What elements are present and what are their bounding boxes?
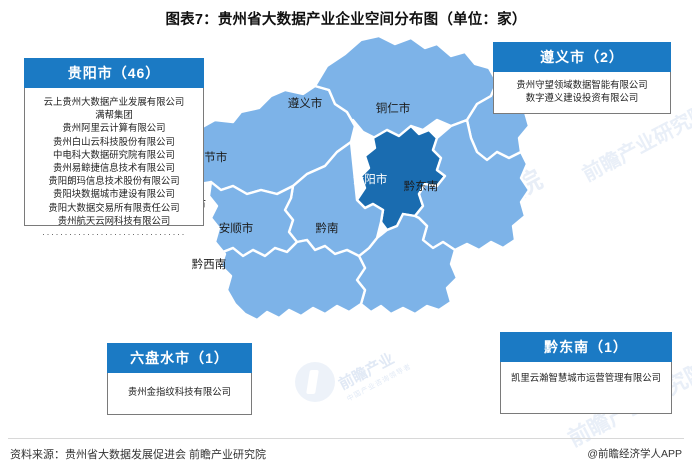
callout-panel-qiandongnan[interactable]: 黔东南（1） 凯里云瀚智慧城市运营管理有限公司 [500, 332, 672, 414]
list-item: 贵州金指纹科技有限公司 [114, 385, 245, 398]
list-item: 贵阳块数据城市建设有限公司 [31, 187, 197, 200]
list-more-indicator: ································ [31, 229, 197, 239]
panel-header-guiyang: 贵阳市（46） [24, 58, 204, 88]
panel-count-guiyang: （46） [113, 65, 161, 81]
list-item: 贵州阿里云计算有限公司 [31, 121, 197, 134]
panel-header-liupanshui: 六盘水市（1） [107, 343, 252, 373]
panel-body-qiandongnan: 凯里云瀚智慧城市运营管理有限公司 [500, 362, 672, 414]
panel-title-zunyi: 遵义市 [540, 49, 585, 65]
guizhou-map [175, 34, 535, 364]
panel-count-zunyi: （2） [585, 49, 624, 65]
map-region-liupanshui[interactable] [209, 182, 297, 256]
list-item: 云上贵州大数据产业发展有限公司 [31, 95, 197, 108]
callout-panel-guiyang[interactable]: 贵阳市（46） 云上贵州大数据产业发展有限公司 满帮集团 贵州阿里云计算有限公司… [24, 58, 204, 226]
list-item: 贵州守望领域数据智能有限公司 [500, 78, 664, 91]
list-item: 凯里云瀚智慧城市运营管理有限公司 [507, 371, 665, 384]
map-label-qiandongnan: 黔东南 [404, 178, 439, 194]
footer-divider [8, 438, 684, 439]
panel-title-liupanshui: 六盘水市 [130, 350, 190, 366]
map-region-qianxinan[interactable] [215, 240, 365, 320]
panel-count-qiandongnan: （1） [589, 339, 628, 355]
panel-body-guiyang: 云上贵州大数据产业发展有限公司 满帮集团 贵州阿里云计算有限公司 贵州白山云科技… [24, 88, 204, 226]
list-item: 贵阳大数据交易所有限责任公司 [31, 201, 197, 214]
panel-body-liupanshui: 贵州金指纹科技有限公司 [107, 373, 252, 415]
panel-header-qiandongnan: 黔东南（1） [500, 332, 672, 362]
page-title: 图表7：贵州省大数据产业企业空间分布图（单位：家） [0, 8, 692, 29]
list-item: 贵阳朗玛信息技术股份有限公司 [31, 174, 197, 187]
panel-title-guiyang: 贵阳市 [68, 65, 113, 81]
callout-panel-liupanshui[interactable]: 六盘水市（1） 贵州金指纹科技有限公司 [107, 343, 252, 415]
list-item: 数字遵义建设投资有限公司 [500, 91, 664, 104]
brand-watermark: @前瞻经济学人APP [587, 446, 682, 461]
list-item: 贵州易鲸捷信息技术有限公司 [31, 161, 197, 174]
source-note: 资料来源：贵州省大数据发展促进会 前瞻产业研究院 [10, 446, 266, 462]
panel-header-zunyi: 遵义市（2） [493, 42, 671, 72]
list-item: 贵州白山云科技股份有限公司 [31, 135, 197, 148]
map-label-qiannan: 黔南 [316, 220, 339, 236]
panel-count-liupanshui: （1） [190, 350, 229, 366]
panel-body-zunyi: 贵州守望领域数据智能有限公司 数字遵义建设投资有限公司 [493, 72, 671, 114]
list-item: 满帮集团 [31, 108, 197, 121]
panel-title-qiandongnan: 黔东南 [544, 339, 589, 355]
watermark-logo-icon-2 [295, 362, 335, 402]
watermark-sub-2: 中国产业咨询领导者 [345, 361, 413, 404]
map-label-anshun: 安顺市 [219, 220, 254, 236]
list-item: 贵州航天云网科技有限公司 [31, 214, 197, 227]
map-label-tongren: 铜仁市 [376, 100, 411, 116]
map-label-qianxinan: 黔西南 [192, 256, 227, 272]
map-label-zunyi: 遵义市 [288, 95, 323, 111]
list-item: 中电科大数据研究院有限公司 [31, 148, 197, 161]
map-label-guiyang: 贵阳市 [353, 171, 388, 187]
callout-panel-zunyi[interactable]: 遵义市（2） 贵州守望领域数据智能有限公司 数字遵义建设投资有限公司 [493, 42, 671, 114]
